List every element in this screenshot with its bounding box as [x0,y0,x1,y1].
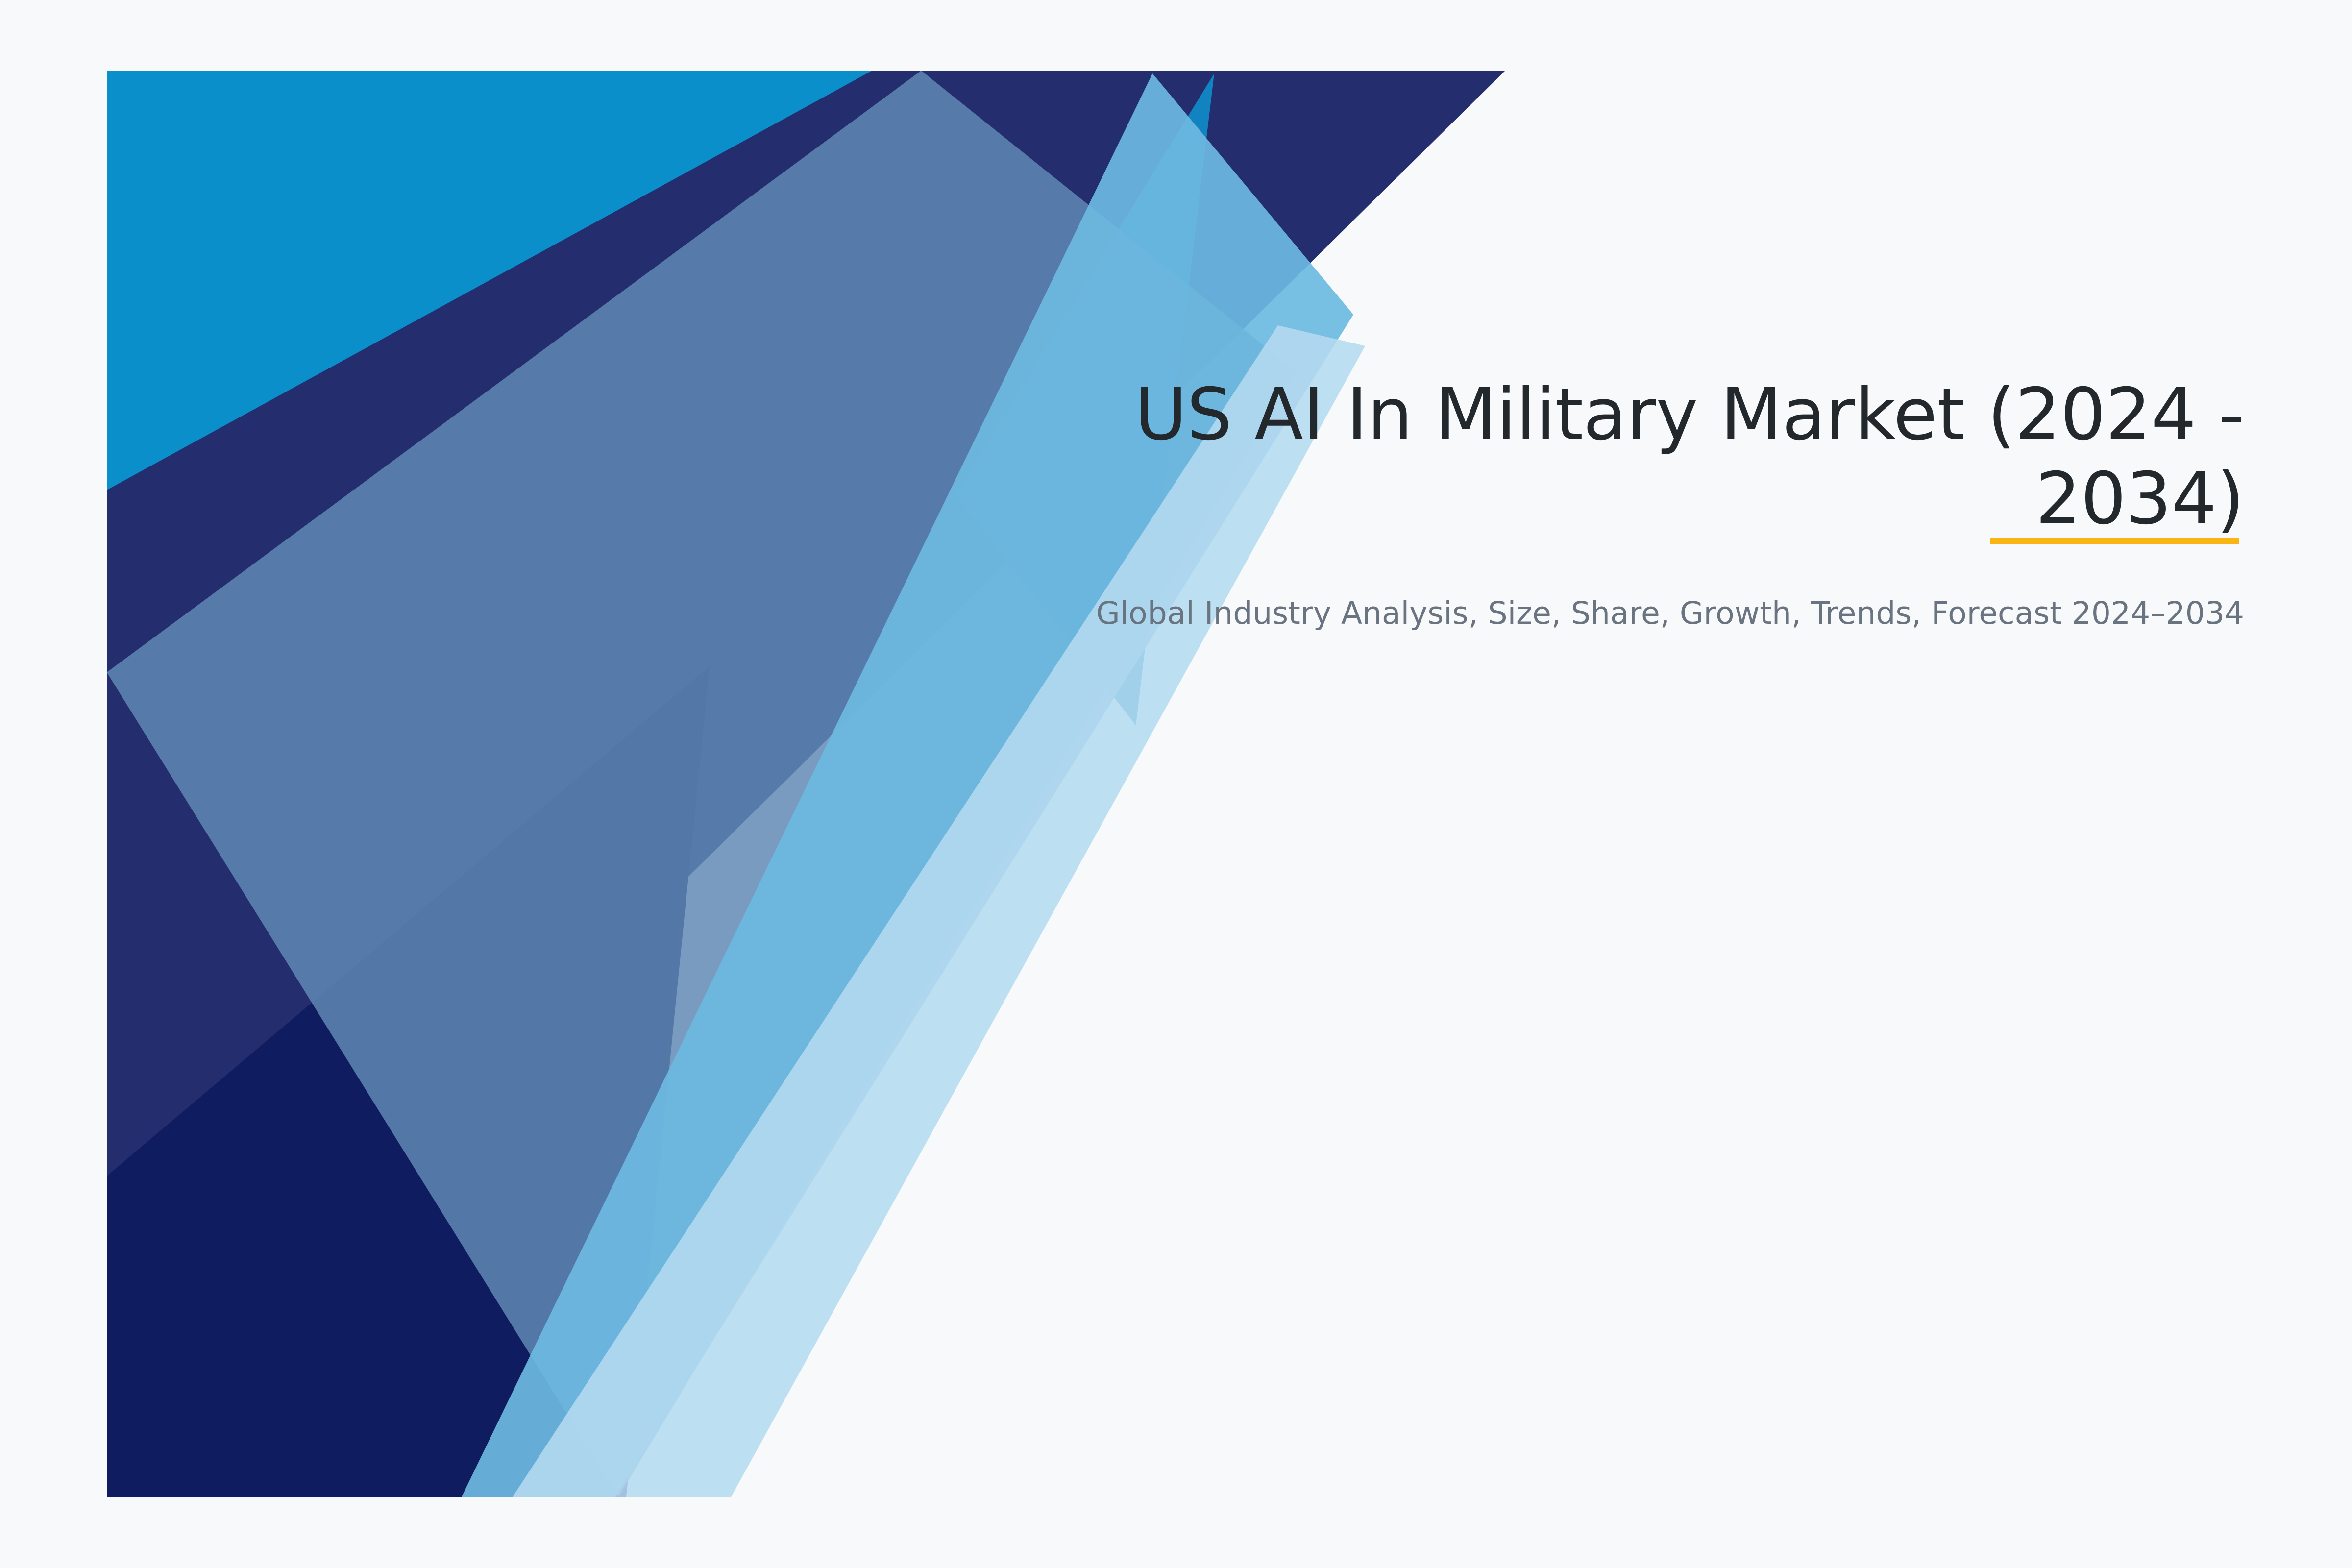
cover-text-block: US AI In Military Market (2024 - 2034) G… [1053,372,2244,635]
abstract-geometric-cover-graphic [0,0,2352,1568]
page-subtitle: Global Industry Analysis, Size, Share, G… [1053,592,2244,635]
slide-canvas: US AI In Military Market (2024 - 2034) G… [0,0,2352,1568]
page-title: US AI In Military Market (2024 - 2034) [1053,372,2244,541]
title-accent-underline [1990,538,2239,544]
